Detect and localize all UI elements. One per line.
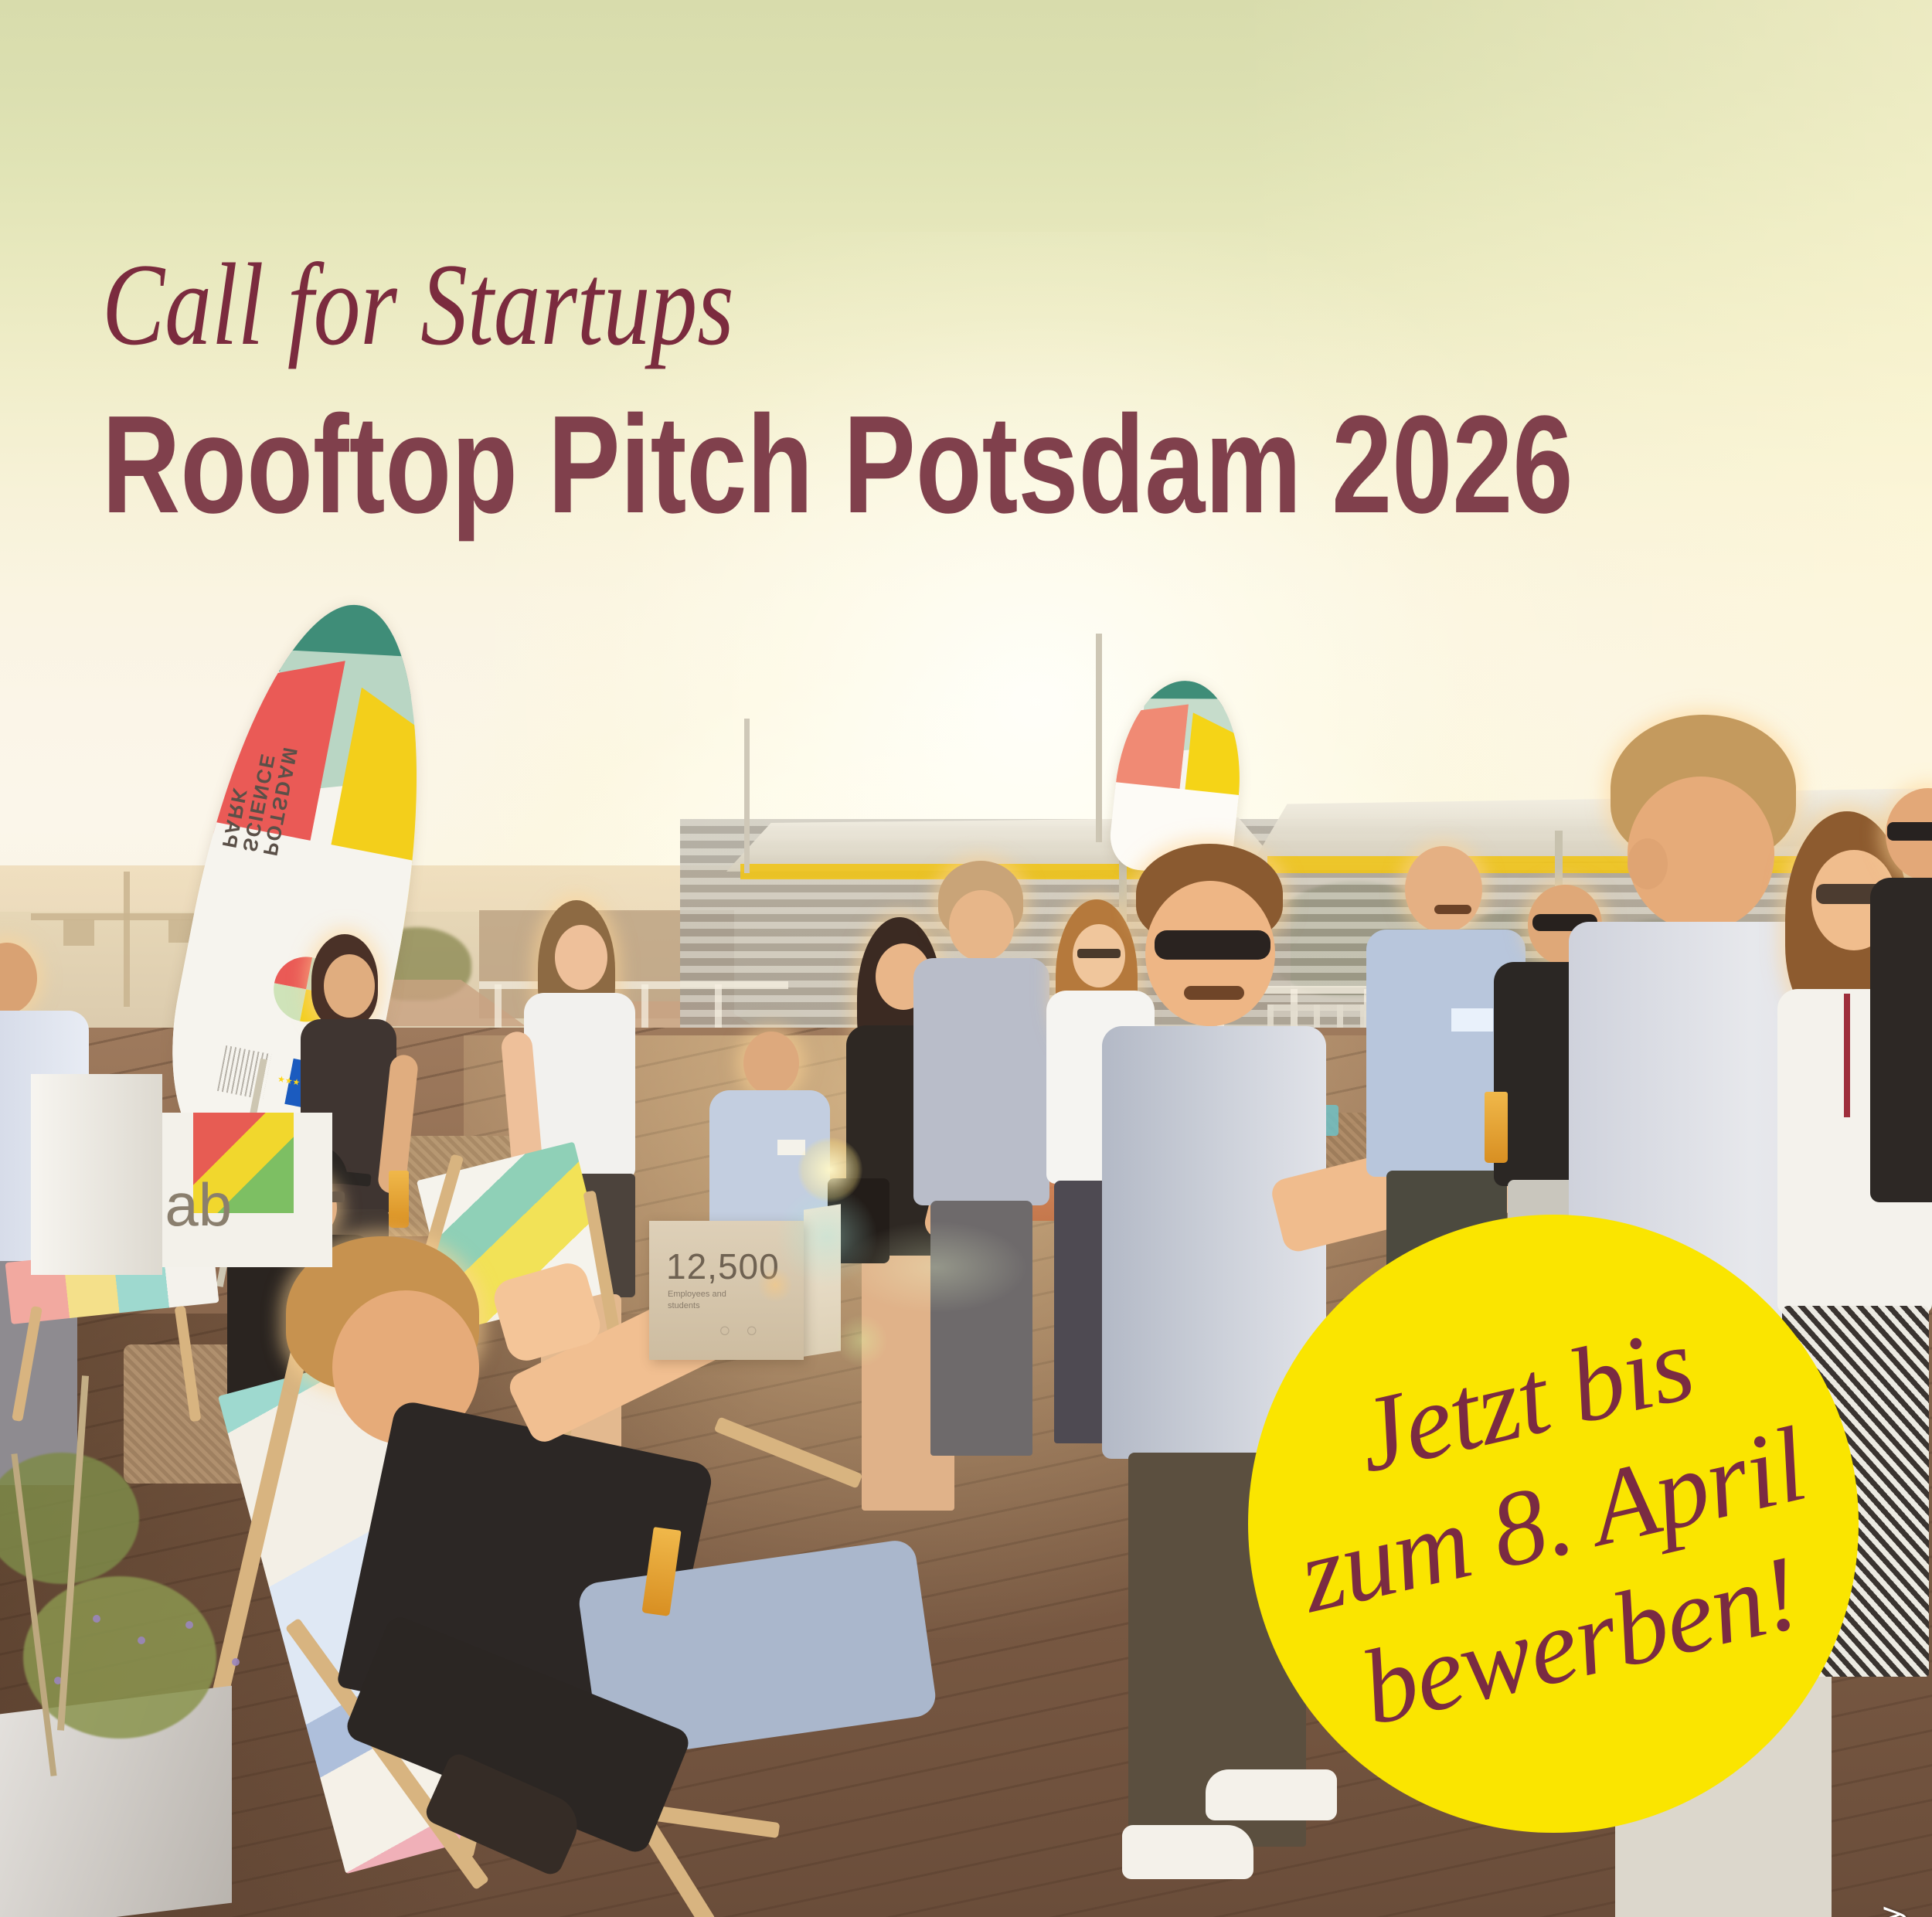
guest-lanyard bbox=[1844, 994, 1850, 1117]
white-pedestal bbox=[31, 1074, 162, 1275]
lavender-bloom bbox=[138, 1637, 145, 1644]
guest-far-right-edge bbox=[1878, 788, 1932, 1252]
antenna-mast bbox=[744, 719, 750, 873]
sunglasses-icon bbox=[1155, 930, 1270, 960]
deadline-badge-text: Jetzt bis zum 8. April bewerben! bbox=[1260, 1281, 1845, 1766]
guest-torso bbox=[913, 958, 1049, 1205]
guest-head bbox=[555, 925, 607, 990]
poster-canvas: POTSDAM SCIENCE PARK ★★★★★★★★★★★★ bbox=[0, 0, 1932, 1917]
guest-sneaker bbox=[1206, 1769, 1337, 1820]
lavender-bloom bbox=[185, 1621, 193, 1629]
guest-head bbox=[949, 890, 1014, 961]
kicker-text: Call for Startups bbox=[102, 246, 734, 363]
page-title: Rooftop Pitch Potsdam 2026 bbox=[102, 396, 1573, 535]
exhibit-panel-text: lab bbox=[151, 1174, 232, 1235]
photo-credit: © sevens + maltry bbox=[1872, 1906, 1907, 1917]
guest-head bbox=[324, 954, 375, 1018]
guest-head bbox=[0, 943, 37, 1014]
lavender-bloom bbox=[93, 1615, 100, 1623]
guest-reclining-deck-chair bbox=[255, 1236, 951, 1916]
sunglasses-icon bbox=[1887, 822, 1932, 841]
box-subtitle: Employees and students bbox=[668, 1289, 760, 1312]
guest-ear bbox=[1628, 838, 1668, 889]
name-badge bbox=[777, 1140, 805, 1155]
guest-head bbox=[1405, 846, 1482, 933]
shrub bbox=[23, 1576, 216, 1739]
antenna-mast bbox=[1096, 634, 1102, 842]
deadline-badge[interactable]: Jetzt bis zum 8. April bewerben! bbox=[1248, 1215, 1859, 1833]
lavender-bloom bbox=[232, 1658, 240, 1666]
flag-segment-red bbox=[1115, 698, 1189, 797]
guest-head bbox=[743, 1032, 799, 1095]
drink-bottle bbox=[1485, 1092, 1508, 1163]
name-badge bbox=[1451, 1008, 1493, 1032]
guest-torso bbox=[1870, 878, 1932, 1202]
guest-moustache bbox=[1434, 905, 1471, 914]
guest-moustache bbox=[1184, 986, 1244, 1000]
construction-crane-block bbox=[63, 919, 94, 946]
guest-sneaker bbox=[1122, 1825, 1253, 1879]
box-number: 12,500 bbox=[666, 1246, 780, 1287]
cardboard-box-side bbox=[804, 1204, 841, 1357]
box-dots-decoration: ○ ○ bbox=[719, 1318, 763, 1342]
